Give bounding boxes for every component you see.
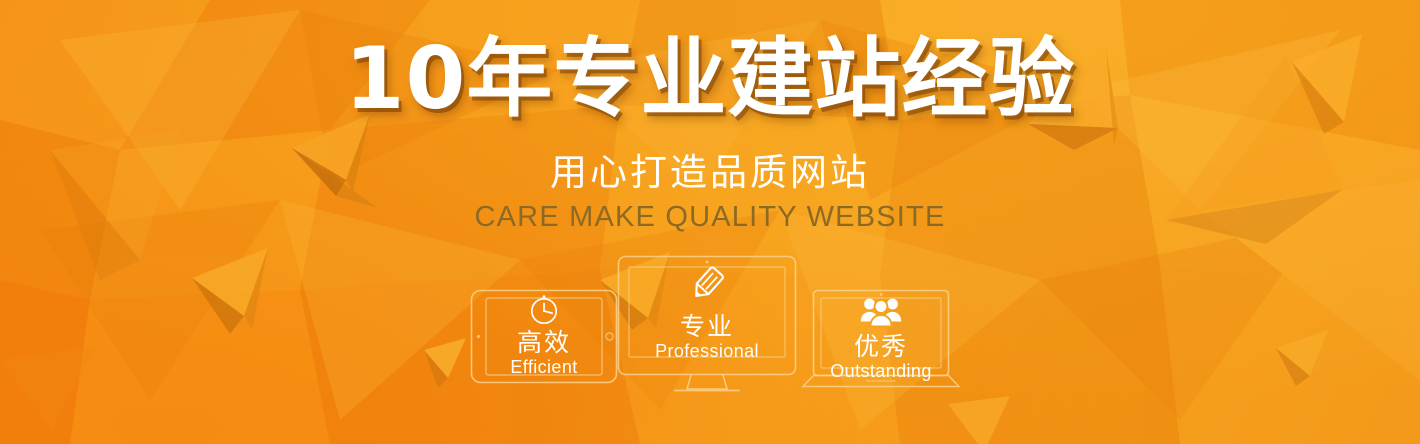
clock-icon-container xyxy=(470,293,618,332)
feature-devices-group: 高效 Efficient xyxy=(0,0,1420,444)
pencil-icon-container xyxy=(617,263,797,310)
pencil-icon xyxy=(686,263,728,305)
feature-card-professional[interactable]: 专业 Professional xyxy=(617,255,797,395)
feature-card-outstanding[interactable]: 优秀 Outstanding xyxy=(801,289,961,393)
feature-card-efficient[interactable]: 高效 Efficient xyxy=(470,289,618,384)
clock-icon xyxy=(527,293,561,327)
people-group-icon-container xyxy=(801,295,961,334)
promo-banner: 10年专业建站经验 用心打造品质网站 CARE MAKE QUALITY WEB… xyxy=(0,0,1420,444)
people-group-icon xyxy=(860,295,902,329)
